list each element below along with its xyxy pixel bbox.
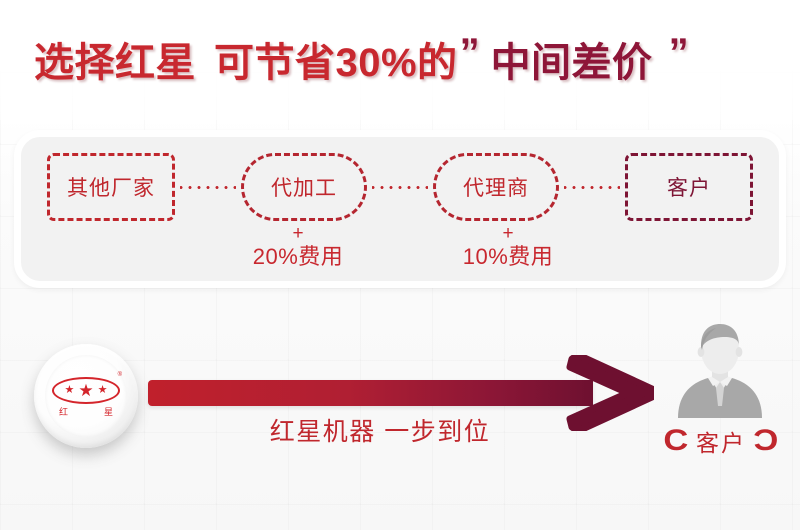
- fee-amount: 10%费用: [433, 243, 583, 271]
- flow-connector-2: [372, 186, 428, 189]
- headline-part-3: 中间差价: [491, 43, 653, 83]
- headline-part-2: 可节省30%的: [214, 43, 458, 83]
- fee-plus-sign: +: [433, 225, 583, 243]
- customer-label-group: C 客户 Ɔ: [648, 424, 794, 458]
- logo-brand-name: 红 星: [52, 405, 120, 418]
- registered-trademark-icon: ®: [118, 372, 122, 378]
- flow-connector-3: [564, 186, 620, 189]
- fee-annotation-agent: + 10%费用: [433, 225, 583, 271]
- poster-canvas: 选择红星 可节省30%的 ” 中间差价 ” 其他厂家 代加工 代理商 客户: [0, 0, 800, 530]
- flow-node-agent: 代理商: [433, 153, 559, 221]
- headline-part-1: 选择红星: [34, 43, 196, 83]
- flow-node-customer: 客户: [625, 153, 753, 221]
- flow-fee-row: + 20%费用 + 10%费用: [21, 225, 779, 287]
- logo-brand-char-left: 红: [59, 405, 68, 418]
- star-icon-left: ★: [65, 385, 75, 396]
- flow-node-label: 代加工: [271, 172, 337, 202]
- middleman-flow-panel: 其他厂家 代加工 代理商 客户 + 20%费用 + 10%费用: [14, 130, 786, 288]
- logo-brand-char-right: 星: [104, 405, 113, 418]
- fee-plus-sign: +: [223, 225, 373, 243]
- quote-close-mark: ”: [669, 31, 686, 76]
- hongxing-logo-badge: ★ ★ ★ 红 星 ®: [34, 344, 138, 448]
- quote-open-mark: ”: [460, 31, 477, 76]
- flow-node-oem-processing: 代加工: [241, 153, 367, 221]
- flow-node-row: 其他厂家 代加工 代理商 客户: [21, 151, 779, 223]
- bracket-right-icon: Ɔ: [753, 426, 778, 456]
- bracket-left-icon: C: [664, 426, 689, 456]
- star-icon-right: ★: [98, 385, 108, 396]
- flow-node-label: 客户: [667, 172, 711, 202]
- customer-label: 客户: [696, 424, 746, 458]
- fee-amount: 20%费用: [223, 243, 373, 271]
- arrow-shaft: [148, 380, 593, 406]
- tagline-text: 红星机器 一步到位: [150, 412, 610, 448]
- flow-node-other-factory: 其他厂家: [47, 153, 175, 221]
- flow-connector-1: [180, 186, 236, 189]
- customer-avatar-icon: [668, 322, 772, 418]
- headline: 选择红星 可节省30%的 ” 中间差价 ”: [0, 32, 800, 94]
- flow-node-label: 代理商: [463, 172, 529, 202]
- star-icon-center: ★: [78, 382, 93, 399]
- logo-inner-disc: ★ ★ ★ 红 星 ®: [45, 355, 127, 437]
- logo-stars-group: ★ ★ ★: [52, 377, 120, 404]
- flow-node-label: 其他厂家: [67, 172, 155, 202]
- fee-annotation-oem: + 20%费用: [223, 225, 373, 271]
